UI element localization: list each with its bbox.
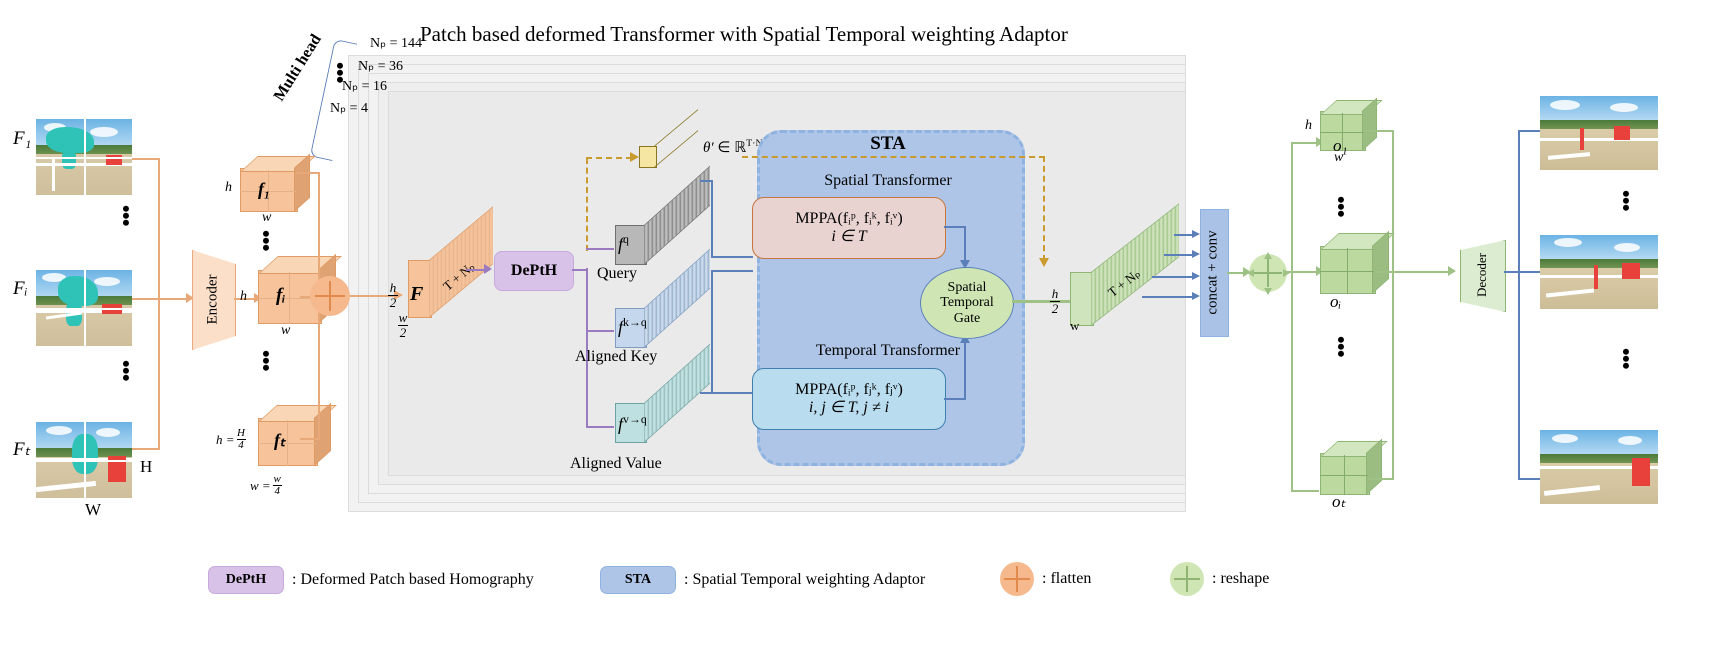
output-photo-1: [1540, 96, 1658, 170]
spatial-transformer-label: Spatial Transformer: [757, 172, 1019, 190]
frames-bus-vertical: [158, 158, 160, 450]
feature-cube-1-label: f₁: [258, 179, 270, 200]
theta-feedback-top: [742, 156, 1045, 158]
legend-text-reshape: : reshape: [1212, 570, 1269, 588]
output-cube-T: [1320, 455, 1368, 495]
np-level-1: Nₚ = 36: [358, 58, 403, 75]
outphoto-bus-top: [1518, 130, 1540, 132]
aligned-value-symbol: fv→q: [618, 412, 647, 435]
reshape-arrow-down: [1264, 288, 1272, 295]
fT-w-prefix: w =: [250, 478, 271, 494]
legend-text-sta: : Spatial Temporal weighting Adaptor: [684, 571, 925, 589]
encoder-label-wrap: Encoder: [192, 250, 234, 348]
concat-in-arrow-1: [1192, 230, 1200, 238]
decoder-label-wrap: Decoder: [1460, 240, 1504, 310]
out-slab-h: h 2: [1050, 286, 1060, 315]
depth-to-qkv-line: [572, 269, 588, 271]
feature-cube-T-label: fₜ: [274, 430, 285, 451]
output-cube-1-w: w: [1334, 150, 1343, 166]
legend-item-sta: STA : Spatial Temporal weighting Adaptor: [600, 566, 925, 594]
features-bus-bottom: [300, 438, 320, 440]
frame-label-1: F₁: [13, 128, 31, 150]
reshape-circle: [1249, 254, 1287, 292]
legend-item-reshape: : reshape: [1170, 562, 1269, 596]
legend-text-depth: : Deformed Patch based Homography: [292, 571, 534, 589]
input-frame-T: [36, 422, 132, 498]
feature-dots-2: •••: [262, 350, 270, 371]
depth-box-label: DePtH: [511, 262, 557, 280]
outphoto-bus-mid: [1518, 271, 1540, 273]
value-to-sta-h2: [711, 392, 753, 394]
key-to-sta-h: [711, 270, 753, 272]
reshape-arrow-left: [1247, 269, 1254, 277]
multihead-dots: •••: [336, 62, 344, 83]
decoder-in-arrow: [1448, 266, 1456, 276]
np-level-2: Nₚ = 16: [342, 78, 387, 95]
np-level-3: Nₚ = 4: [330, 100, 368, 117]
mppa-spatial-formula: MPPA(fᵢᵖ, fᵢᵏ, fᵢᵛ): [795, 210, 902, 228]
input-dots-1: •••: [122, 205, 130, 226]
theta-line-horizontal: [586, 157, 632, 159]
legend-chip-flatten: [1000, 562, 1034, 596]
encoder-in-line: [158, 298, 188, 300]
encoder-label: Encoder: [205, 274, 222, 324]
out-h-den: 2: [1052, 302, 1059, 316]
theta-arrow: [630, 152, 639, 162]
output-dots-1: •••: [1337, 196, 1345, 217]
F-w-den: 2: [400, 326, 407, 340]
out-slab-w: w: [1070, 318, 1079, 334]
mppa-spatial-box: MPPA(fᵢᵖ, fᵢᵏ, fᵢᵛ) i ∈ T: [752, 197, 946, 259]
fT-h-den: 4: [238, 440, 244, 451]
frames-bus-top: [132, 158, 160, 160]
query-to-sta-h2: [711, 256, 753, 258]
F-h-num: h: [390, 281, 397, 295]
theta-space: ℝ: [734, 140, 746, 156]
frame-label-i: Fᵢ: [13, 278, 28, 300]
F-slab-label: F: [410, 283, 423, 306]
concat-in-arrow-2: [1192, 250, 1200, 258]
feature-cube-T-h: h = H 4: [216, 428, 246, 451]
flatten-circle: [310, 276, 350, 316]
concat-conv-label-wrap: concat + conv: [1200, 209, 1227, 335]
legend-item-flatten: : flatten: [1000, 562, 1091, 596]
theta-symbol: θ′: [703, 140, 714, 156]
output-cube-i: [1320, 248, 1374, 294]
output-photo-i: [1540, 235, 1658, 309]
output-dots-2: •••: [1337, 336, 1345, 357]
gate-line-2: Temporal: [940, 295, 993, 310]
qkv-branch-v: [586, 426, 614, 428]
mppa-spatial-cond: i ∈ T: [795, 228, 902, 246]
legend-item-depth: DePtH : Deformed Patch based Homography: [208, 566, 534, 594]
F-to-depth-arrow: [484, 264, 492, 274]
output-photo-dots-2: •••: [1622, 348, 1630, 369]
reshape-bus-top: [1291, 142, 1319, 144]
sta-title: STA: [757, 133, 1019, 155]
legend-chip-depth-label: DePtH: [226, 572, 266, 588]
frames-bus-mid: [132, 298, 160, 300]
input-dots-2: •••: [122, 360, 130, 381]
features-bus-top: [296, 172, 320, 174]
legend-text-flatten: : flatten: [1042, 570, 1091, 588]
aligned-value-caption: Aligned Value: [570, 455, 662, 473]
output-cube-1-h: h: [1305, 118, 1312, 134]
legend-chip-sta-label: STA: [625, 572, 651, 588]
feature-cube-i-h: h: [240, 289, 247, 305]
F-h-den: 2: [390, 296, 397, 310]
output-photo-dots-1: •••: [1622, 190, 1630, 211]
F-slab-h: h 2: [388, 280, 398, 309]
legend: DePtH : Deformed Patch based Homography …: [0, 552, 1724, 610]
gate-out-line: [1012, 300, 1074, 303]
value-sup: v→q: [623, 412, 647, 426]
feature-cube-1-h: h: [225, 180, 232, 196]
qkv-branch-k: [586, 330, 614, 332]
page-title: Patch based deformed Transformer with Sp…: [420, 22, 1320, 47]
reshape-arrow-up: [1264, 252, 1272, 259]
key-to-sta-v: [711, 270, 713, 394]
feature-cube-T: [258, 420, 316, 466]
feature-dots-1: •••: [262, 230, 270, 251]
F-slab-w: w 2: [398, 310, 408, 339]
theta-feedback-right: [1043, 156, 1045, 261]
query-to-sta-h1: [700, 180, 712, 182]
input-frame-i: [36, 270, 132, 346]
mppa-temporal-cond: i, j ∈ T, j ≠ i: [795, 399, 903, 417]
input-height-label: H: [140, 457, 152, 477]
output-cube-T-label: oₜ: [1332, 492, 1346, 512]
frames-bus-bottom: [132, 448, 160, 450]
key-sup: k→q: [623, 315, 647, 329]
input-frame-1: [36, 119, 132, 195]
theta-feedback-arrow: [1039, 258, 1049, 267]
reshape-bus-mid: [1287, 271, 1319, 273]
spatial-temporal-gate: Spatial Temporal Gate: [920, 267, 1014, 339]
outphoto-bus-bottom: [1518, 478, 1540, 480]
depth-box[interactable]: DePtH: [494, 251, 574, 291]
outphoto-bus-vertical: [1518, 130, 1520, 480]
F-w-num: w: [399, 311, 408, 325]
legend-chip-reshape: [1170, 562, 1204, 596]
decoder-bus-top: [1364, 130, 1394, 132]
concat-in-arrow-3: [1192, 272, 1200, 280]
temporal-transformer-label: Temporal Transformer: [757, 342, 1019, 360]
output-cube-i-label: oᵢ: [1330, 292, 1341, 312]
fT-w-num: w: [274, 474, 281, 485]
temporal-to-gate-h: [944, 398, 966, 400]
theta-slab: [639, 128, 699, 168]
decoder-bus-bottom: [1368, 478, 1394, 480]
np-level-0: Nₚ = 144: [370, 35, 422, 52]
query-sup: q: [623, 232, 629, 246]
temporal-to-gate-v: [964, 342, 966, 400]
aligned-key-symbol: fk→q: [618, 315, 647, 338]
concat-in-line-3: [1152, 276, 1196, 278]
decoder-bus-mid: [1374, 271, 1394, 273]
gate-line-3: Gate: [940, 311, 993, 326]
qkv-branch-q: [586, 248, 614, 250]
decoder-bus-vertical: [1392, 130, 1394, 480]
mppa-temporal-box: MPPA(fᵢᵖ, fⱼᵏ, fⱼᵛ) i, j ∈ T, j ≠ i: [752, 368, 946, 430]
gate-line-1: Spatial: [940, 280, 993, 295]
F-to-depth-line: [466, 269, 486, 271]
frame-label-T: Fₜ: [13, 438, 30, 461]
decoder-in-line: [1392, 271, 1450, 273]
spatial-to-gate-v: [964, 226, 966, 262]
legend-chip-sta: STA: [600, 566, 676, 594]
feature-cube-i-label: fᵢ: [276, 285, 286, 307]
concat-in-line-4: [1142, 296, 1196, 298]
concat-conv-label: concat + conv: [1205, 230, 1222, 314]
fT-h-num: H: [237, 428, 245, 439]
theta-line-vertical: [586, 158, 588, 251]
decoder-label: Decoder: [1474, 253, 1490, 297]
output-photo-T: [1540, 430, 1658, 504]
reshape-bus-bottom: [1291, 490, 1319, 492]
query-symbol: fq: [618, 232, 629, 255]
reshape-bus-vertical: [1291, 142, 1293, 492]
query-to-sta-v: [711, 180, 713, 258]
concat-in-arrow-4: [1192, 292, 1200, 300]
spatial-to-gate-h: [944, 226, 966, 228]
feature-cube-T-w: w = w 4: [250, 474, 282, 497]
feature-cube-i-w: w: [281, 323, 290, 339]
theta-membership: ∈: [717, 140, 730, 156]
fT-h-prefix: h =: [216, 432, 235, 448]
out-h-num: h: [1052, 287, 1059, 301]
mppa-temporal-formula: MPPA(fᵢᵖ, fⱼᵏ, fⱼᵛ): [795, 381, 903, 399]
input-width-label: W: [85, 500, 101, 520]
fT-w-den: 4: [274, 486, 280, 497]
legend-chip-depth: DePtH: [208, 566, 284, 594]
